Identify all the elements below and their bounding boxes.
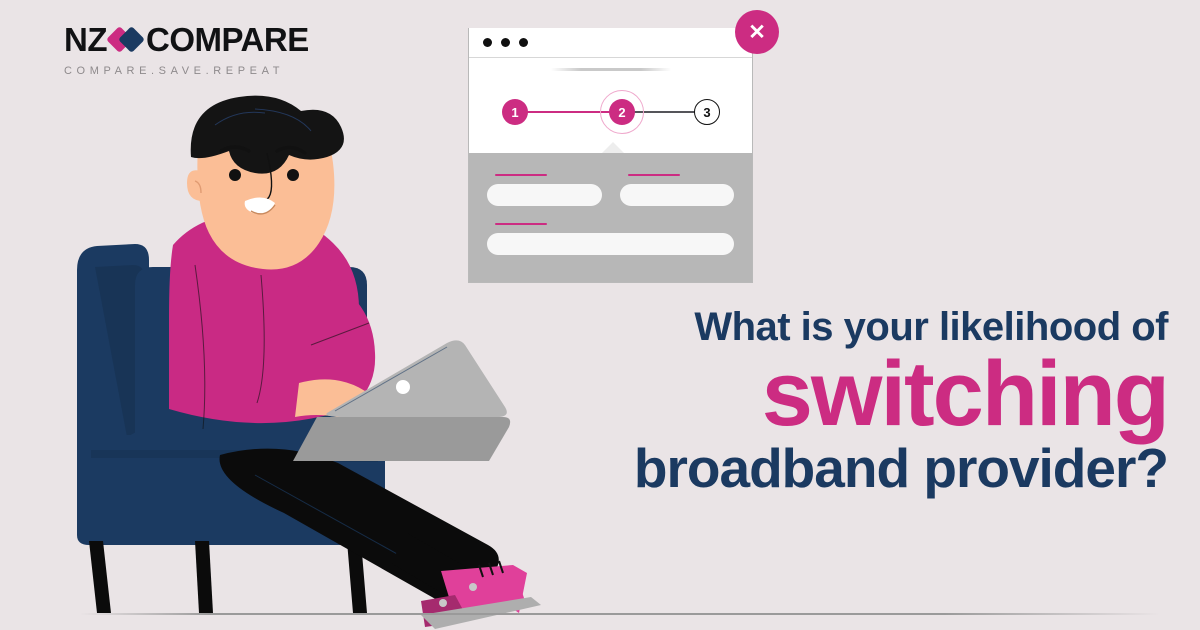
poster-canvas: NZ COMPARE COMPARE.SAVE.REPEAT ✕ <box>0 0 1200 630</box>
headline-line-2-accent: switching <box>428 346 1168 443</box>
window-dot-icon <box>519 38 528 47</box>
headline-line-3: broadband provider? <box>428 439 1168 498</box>
ground-line <box>80 613 1160 615</box>
window-dot-icon <box>483 38 492 47</box>
logo-text-nz: NZ <box>64 23 107 56</box>
text-input-2[interactable] <box>620 184 735 206</box>
ear <box>187 170 203 201</box>
chair-leg-mid <box>195 541 213 613</box>
eye-right <box>287 169 299 181</box>
ghost-text-line <box>551 68 671 71</box>
logo-text-compare: COMPARE <box>146 23 309 56</box>
shoe-eyelet-icon <box>439 599 447 607</box>
window-dot-icon <box>501 38 510 47</box>
eye-left <box>229 169 241 181</box>
headline-line-1: What is your likelihood of <box>428 306 1168 348</box>
shoe-eyelet-icon <box>469 583 477 591</box>
brand-logo[interactable]: NZ COMPARE COMPARE.SAVE.REPEAT <box>64 20 314 77</box>
field-label-accent <box>628 174 680 176</box>
browser-titlebar <box>469 28 752 58</box>
form-field-2 <box>620 174 735 206</box>
headline-block: What is your likelihood of switching bro… <box>428 306 1168 498</box>
browser-heading-placeholder <box>469 58 752 80</box>
laptop-logo-icon <box>396 380 410 394</box>
diamond-pair-icon <box>110 26 144 52</box>
brand-tagline: COMPARE.SAVE.REPEAT <box>64 65 314 77</box>
stepper-step-3[interactable]: 3 <box>694 99 720 125</box>
logo-wordmark: NZ COMPARE <box>64 20 314 58</box>
chair-leg-left <box>89 541 111 613</box>
close-icon[interactable]: ✕ <box>735 10 779 54</box>
